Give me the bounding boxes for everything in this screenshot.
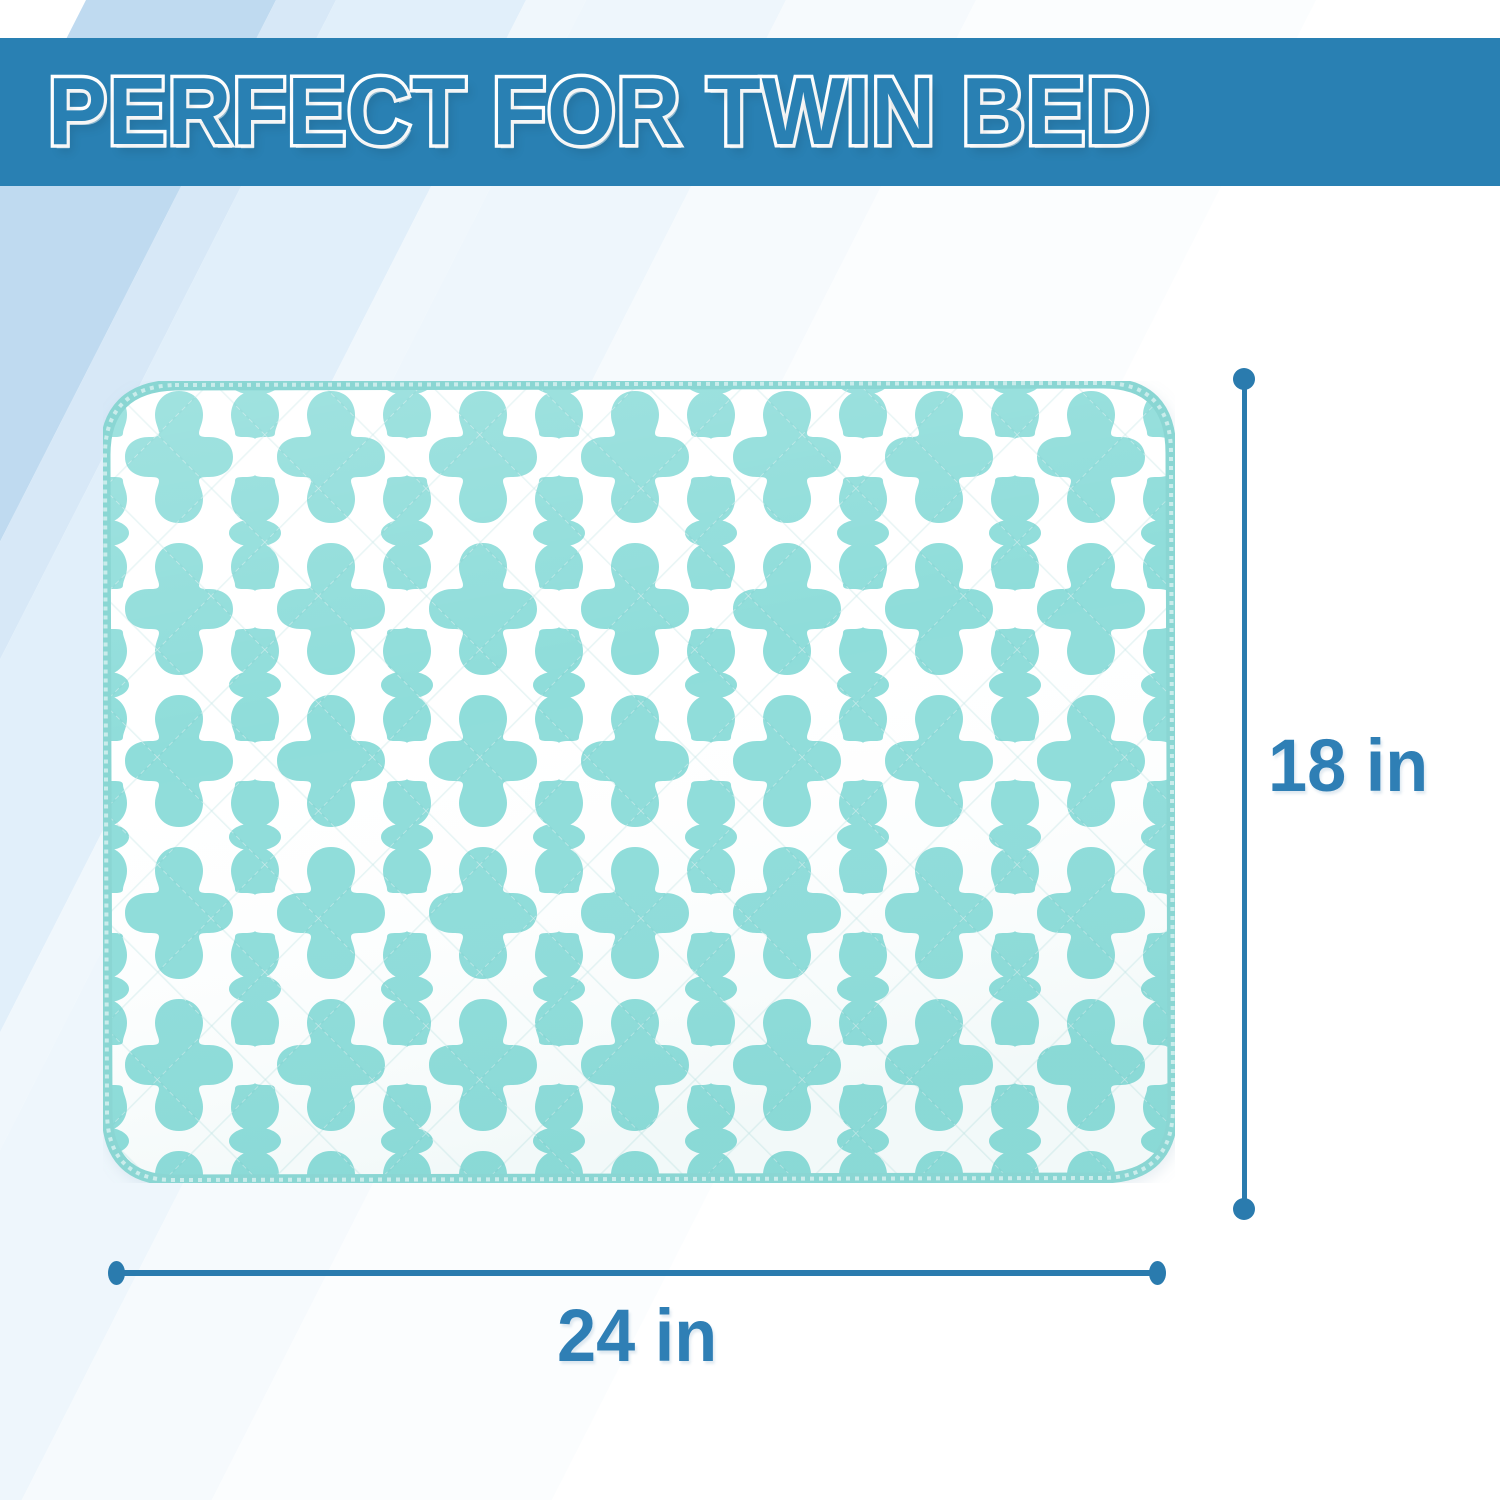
dimension-line-v-shaft <box>1242 382 1247 1206</box>
dimension-line-h-shaft <box>120 1270 1154 1276</box>
dimension-cap-bottom <box>1233 1198 1255 1220</box>
dimension-label-height: 18 in <box>1268 723 1428 808</box>
infographic-canvas: PERFECT FOR TWIN BED <box>0 0 1500 1500</box>
product-illustration <box>103 381 1175 1183</box>
header-banner: PERFECT FOR TWIN BED <box>0 38 1500 186</box>
dimension-line-vertical <box>1233 368 1255 1220</box>
product-image-quilted-bed-pad <box>103 381 1175 1183</box>
dimension-cap-top <box>1233 368 1255 390</box>
dimension-cap-right <box>1149 1261 1166 1285</box>
dimension-cap-left <box>108 1261 125 1285</box>
dimension-line-horizontal <box>108 1261 1166 1285</box>
banner-title: PERFECT FOR TWIN BED <box>48 64 1151 160</box>
dimension-label-width: 24 in <box>557 1293 717 1378</box>
